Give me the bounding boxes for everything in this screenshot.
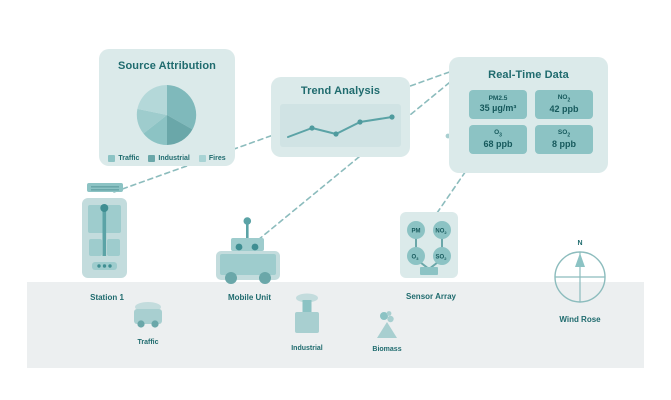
panel-title-real-time-data: Real-Time Data — [449, 69, 608, 81]
metric-value: 35 µg/m³ — [480, 104, 517, 113]
car-wheel-left — [137, 320, 144, 327]
traffic-car-icon — [126, 300, 170, 332]
sensor-label-o3: O3 — [412, 255, 420, 261]
metric-card-so2[interactable]: SO2 8 ppb — [535, 125, 593, 154]
trend-line — [288, 117, 392, 137]
biomass-smoke-puff-c — [387, 311, 392, 316]
metric-name: O3 — [494, 130, 502, 138]
metric-card-grid: PM2.5 35 µg/m³ NO2 42 ppb O3 68 ppb SO2 … — [469, 90, 593, 154]
metric-card-o3[interactable]: O3 68 ppb — [469, 125, 527, 154]
legend-source-attribution: Traffic Industrial Fires — [99, 155, 235, 162]
sensor-array-icon: PM NO2 O3 SO2 — [392, 212, 478, 286]
station-antenna-mast — [103, 208, 107, 256]
smokestack — [303, 300, 312, 314]
metric-name: SO2 — [558, 130, 570, 138]
metric-card-pm25[interactable]: PM2.5 35 µg/m³ — [469, 90, 527, 119]
panel-source-attribution[interactable]: Source Attribution Traffic Industrial — [99, 49, 235, 166]
factory-building — [295, 312, 319, 333]
metric-value: 68 ppb — [483, 140, 512, 149]
station-window-right — [107, 239, 120, 256]
figure-label-mobile-unit: Mobile Unit — [207, 293, 292, 302]
metric-value: 42 ppb — [549, 105, 578, 114]
legend-label: Industrial — [158, 155, 190, 162]
panel-trend-analysis[interactable]: Trend Analysis — [271, 77, 410, 157]
figure-label-sensor-array: Sensor Array — [384, 292, 478, 301]
mobile-wheel-right — [259, 272, 271, 284]
figure-label-industrial: Industrial — [284, 345, 330, 352]
industrial-factory-icon — [284, 293, 330, 338]
metric-card-no2[interactable]: NO2 42 ppb — [535, 90, 593, 119]
figure-label-traffic: Traffic — [126, 339, 170, 346]
air-quality-monitoring-diagram: Source Attribution Traffic Industrial — [0, 0, 671, 400]
metric-value: 8 ppb — [552, 140, 576, 149]
metric-name: NO2 — [558, 95, 571, 103]
figure-mobile-unit[interactable]: Mobile Unit — [207, 207, 292, 302]
wind-rose-north-arrow — [575, 253, 585, 267]
legend-label: Fires — [209, 155, 226, 162]
legend-item: Fires — [199, 155, 226, 162]
mobile-antenna-tip — [244, 217, 252, 225]
sensor-label-no2: NO2 — [435, 229, 447, 235]
legend-label: Traffic — [118, 155, 139, 162]
figure-station-1[interactable]: Station 1 — [76, 182, 138, 302]
figure-source-biomass[interactable]: Biomass — [365, 310, 409, 353]
panel-real-time-data[interactable]: Real-Time Data PM2.5 35 µg/m³ NO2 42 ppb… — [449, 57, 608, 173]
mobile-sensor-box — [231, 238, 264, 251]
wind-rose-north-label: N — [549, 240, 611, 247]
station-window-left — [89, 239, 102, 256]
figure-label-biomass: Biomass — [365, 346, 409, 353]
pie-chart-source-attribution — [134, 82, 200, 148]
metric-name: PM2.5 — [489, 96, 508, 103]
panel-title-source-attribution: Source Attribution — [99, 60, 235, 72]
mobile-van-window — [220, 254, 276, 275]
biomass-fire-icon — [365, 310, 409, 340]
figure-source-traffic[interactable]: Traffic — [126, 300, 170, 346]
station-antenna-tip — [100, 204, 108, 212]
mobile-unit-icon — [207, 207, 292, 287]
sensor-label-pm: PM — [412, 229, 421, 235]
line-chart-trend-analysis — [280, 104, 401, 147]
car-wheel-right — [151, 320, 158, 327]
mobile-wheel-left — [225, 272, 237, 284]
figure-sensor-array[interactable]: PM NO2 O3 SO2 Sensor Array — [392, 212, 478, 301]
sensor-label-so2: SO2 — [436, 255, 448, 261]
figure-source-industrial[interactable]: Industrial — [284, 293, 330, 352]
panel-title-trend-analysis: Trend Analysis — [271, 85, 410, 97]
biomass-smoke-puff-b — [387, 316, 393, 322]
biomass-tree — [377, 322, 397, 338]
legend-swatch-icon — [199, 155, 206, 162]
sensor-array-base — [420, 267, 438, 275]
station-1-icon — [76, 182, 138, 286]
figure-label-wind-rose: Wind Rose — [549, 315, 611, 324]
figure-wind-rose[interactable]: N Wind Rose — [549, 240, 611, 324]
legend-item: Industrial — [148, 155, 190, 162]
legend-swatch-icon — [148, 155, 155, 162]
legend-swatch-icon — [108, 155, 115, 162]
wind-rose-icon — [549, 248, 611, 306]
legend-item: Traffic — [108, 155, 139, 162]
